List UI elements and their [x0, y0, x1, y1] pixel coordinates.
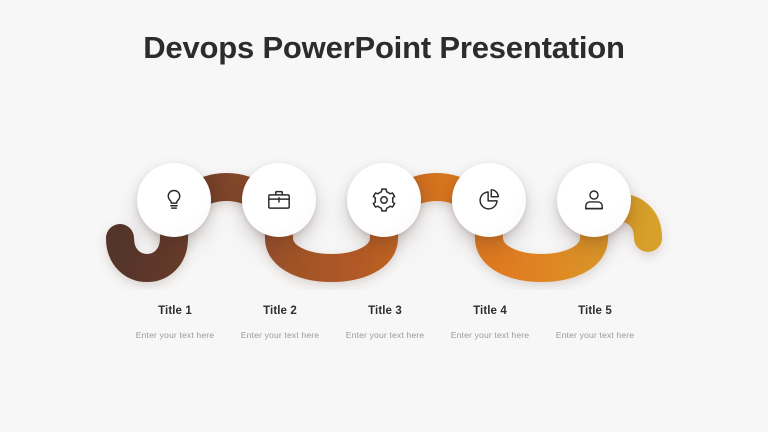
user-icon	[581, 187, 607, 213]
step-node-1[interactable]	[137, 163, 211, 237]
step-caption-group: Title 1 Enter your text here Title 2 Ent…	[0, 305, 768, 365]
step-title-5: Title 5	[530, 305, 660, 317]
step-caption-5: Title 5 Enter your text here	[530, 305, 660, 340]
slide-canvas: Devops PowerPoint Presentation	[0, 0, 768, 432]
page-title: Devops PowerPoint Presentation	[0, 30, 768, 66]
step-node-2[interactable]	[242, 163, 316, 237]
gear-icon	[371, 187, 397, 213]
step-node-4[interactable]	[452, 163, 526, 237]
step-node-group	[0, 110, 768, 290]
pie-chart-icon	[476, 187, 502, 213]
lightbulb-icon	[161, 187, 187, 213]
step-subtitle-5: Enter your text here	[530, 330, 660, 340]
briefcase-icon	[266, 187, 292, 213]
step-node-5[interactable]	[557, 163, 631, 237]
step-node-3[interactable]	[347, 163, 421, 237]
